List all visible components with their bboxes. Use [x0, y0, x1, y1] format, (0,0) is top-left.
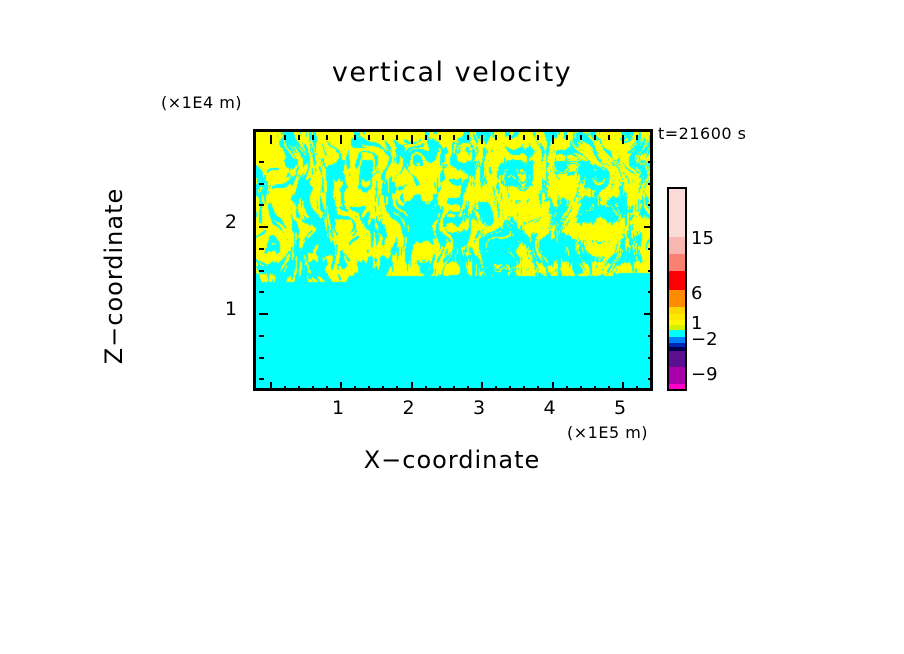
axis-tick	[284, 135, 286, 140]
y-axis-title: Z−coordinate	[100, 156, 128, 396]
axis-tick	[481, 135, 483, 144]
axis-tick	[537, 386, 539, 391]
axis-tick	[396, 386, 398, 391]
x-axis-units-label: (×1E5 m)	[567, 423, 648, 442]
colorbar-tick-label: 15	[691, 228, 714, 249]
axis-tick	[467, 135, 469, 140]
axis-tick	[648, 335, 653, 337]
colorbar-band	[669, 307, 685, 314]
axis-tick	[259, 313, 268, 315]
x-tick-label: 3	[467, 397, 491, 419]
axis-tick	[566, 135, 568, 140]
velocity-field-heatmap	[256, 132, 650, 388]
y-axis-units-label: (×1E4 m)	[161, 93, 242, 112]
axis-tick	[298, 135, 300, 140]
axis-tick	[270, 382, 272, 391]
axis-tick	[259, 204, 264, 206]
axis-tick	[566, 386, 568, 391]
axis-tick	[453, 135, 455, 140]
axis-tick	[644, 226, 653, 228]
axis-tick	[648, 183, 653, 185]
axis-tick	[537, 135, 539, 140]
timestamp-label: t=21600 s	[658, 124, 747, 143]
axis-tick	[552, 382, 554, 391]
colorbar-band	[669, 237, 685, 254]
plot-area	[253, 129, 653, 391]
axis-tick	[312, 135, 314, 140]
axis-tick	[382, 386, 384, 391]
y-tick-label: 1	[213, 298, 237, 320]
axis-tick	[648, 378, 653, 380]
axis-tick	[636, 135, 638, 140]
axis-tick	[259, 161, 264, 163]
axis-tick	[298, 386, 300, 391]
axis-tick	[326, 386, 328, 391]
axis-tick	[594, 386, 596, 391]
x-tick-label: 4	[538, 397, 562, 419]
axis-tick	[636, 386, 638, 391]
colorbar-band	[669, 367, 685, 384]
axis-tick	[622, 382, 624, 391]
axis-tick	[648, 204, 653, 206]
axis-tick	[648, 357, 653, 359]
colorbar-tick-label: 6	[691, 283, 702, 304]
colorbar-tick-label: −2	[691, 329, 718, 350]
axis-tick	[354, 135, 356, 140]
colorbar-band	[669, 254, 685, 271]
axis-tick	[509, 135, 511, 140]
axis-tick	[608, 386, 610, 391]
axis-tick	[580, 135, 582, 140]
axis-tick	[340, 135, 342, 144]
axis-tick	[648, 291, 653, 293]
x-axis-title: X−coordinate	[0, 446, 904, 474]
axis-tick	[523, 135, 525, 140]
axis-tick	[259, 378, 264, 380]
axis-tick	[439, 135, 441, 140]
axis-tick	[608, 135, 610, 140]
axis-tick	[259, 248, 264, 250]
axis-tick	[259, 270, 264, 272]
axis-tick	[340, 382, 342, 391]
axis-tick	[425, 386, 427, 391]
axis-tick	[509, 386, 511, 391]
axis-tick	[481, 382, 483, 391]
axis-tick	[425, 135, 427, 140]
axis-tick	[648, 161, 653, 163]
axis-tick	[396, 135, 398, 140]
axis-tick	[368, 386, 370, 391]
axis-tick	[259, 183, 264, 185]
axis-tick	[284, 386, 286, 391]
axis-tick	[259, 335, 264, 337]
axis-tick	[552, 135, 554, 144]
axis-tick	[648, 248, 653, 250]
axis-tick	[411, 382, 413, 391]
axis-tick	[580, 386, 582, 391]
axis-tick	[644, 313, 653, 315]
axis-tick	[594, 135, 596, 140]
colorbar-band	[669, 330, 685, 337]
colorbar-band	[669, 189, 685, 237]
colorbar-tick-label: −9	[691, 364, 718, 385]
x-tick-label: 2	[397, 397, 421, 419]
axis-tick	[259, 357, 264, 359]
colorbar	[667, 187, 687, 391]
axis-tick	[622, 135, 624, 144]
axis-tick	[495, 386, 497, 391]
colorbar-band	[669, 271, 685, 290]
axis-tick	[411, 135, 413, 144]
axis-tick	[259, 226, 268, 228]
axis-tick	[368, 135, 370, 140]
axis-tick	[270, 135, 272, 144]
colorbar-band	[669, 384, 685, 391]
axis-tick	[467, 386, 469, 391]
axis-tick	[382, 135, 384, 140]
axis-tick	[523, 386, 525, 391]
axis-tick	[312, 386, 314, 391]
axis-tick	[453, 386, 455, 391]
colorbar-band	[669, 351, 685, 367]
axis-tick	[326, 135, 328, 140]
axis-tick	[259, 291, 264, 293]
colorbar-band	[669, 290, 685, 307]
x-tick-label: 5	[608, 397, 632, 419]
x-tick-label: 1	[326, 397, 350, 419]
y-tick-label: 2	[213, 211, 237, 233]
page-title: vertical velocity	[0, 57, 904, 88]
axis-tick	[439, 386, 441, 391]
axis-tick	[648, 270, 653, 272]
axis-tick	[354, 386, 356, 391]
axis-tick	[495, 135, 497, 140]
